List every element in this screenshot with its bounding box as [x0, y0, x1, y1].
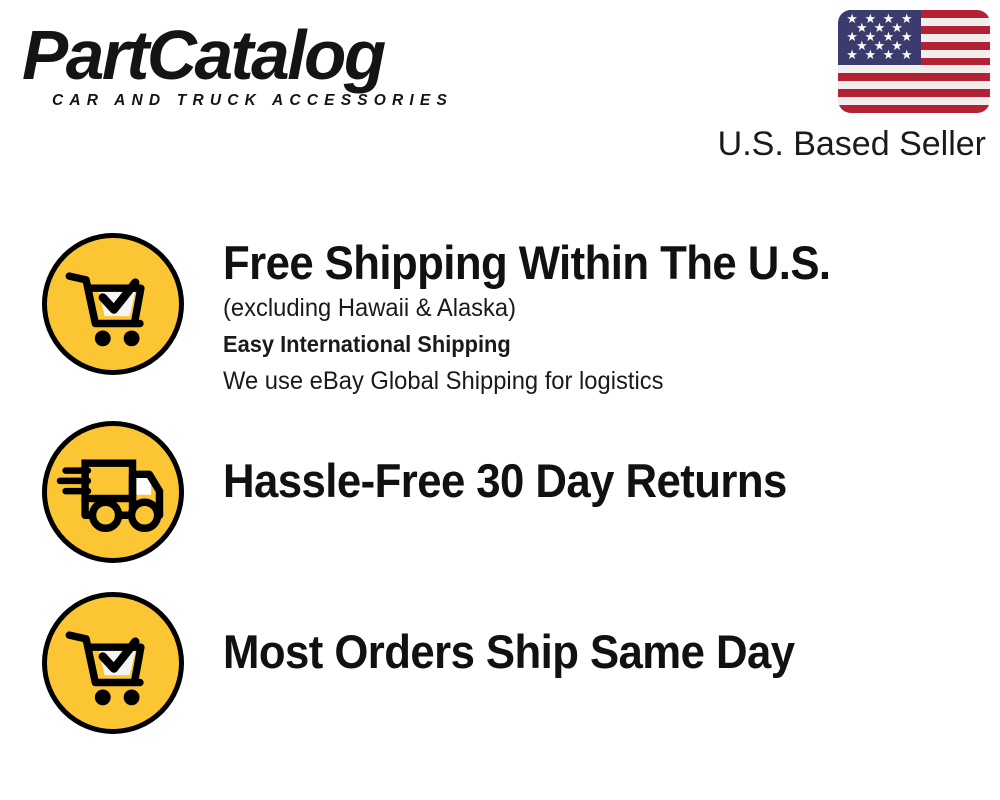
seller-badge: ★★★★ ★★★ ★★★★ ★★★ ★★★★ U.S. Based Seller [700, 10, 990, 164]
shopping-cart-check-icon [42, 592, 184, 734]
brand-tagline: CAR AND TRUCK ACCESSORIES [22, 92, 492, 110]
benefit-subtext: We use eBay Global Shipping for logistic… [223, 363, 844, 399]
benefit-title: Free Shipping Within The U.S. [223, 235, 831, 290]
benefit-title: Hassle-Free 30 Day Returns [223, 453, 787, 508]
us-flag-icon: ★★★★ ★★★ ★★★★ ★★★ ★★★★ [838, 10, 990, 113]
benefit-row: Hassle-Free 30 Day Returns [0, 421, 1000, 571]
benefit-subtext-strong: Easy International Shipping [223, 326, 844, 363]
seller-label: U.S. Based Seller [700, 124, 986, 164]
benefit-row: Free Shipping Within The U.S. (excluding… [0, 233, 1000, 399]
benefit-text: Hassle-Free 30 Day Returns [223, 421, 829, 508]
benefit-text: Free Shipping Within The U.S. (excluding… [223, 233, 876, 399]
benefit-icon [42, 592, 192, 742]
flag-canton: ★★★★ ★★★ ★★★★ ★★★ ★★★★ [838, 10, 921, 65]
benefit-title: Most Orders Ship Same Day [223, 624, 794, 679]
delivery-truck-icon [42, 421, 184, 563]
brand-wordmark: PartCatalog [22, 18, 487, 92]
benefit-icon [42, 233, 192, 383]
brand-logo[interactable]: PartCatalog CAR AND TRUCK ACCESSORIES [22, 18, 492, 110]
benefit-row: Most Orders Ship Same Day [0, 592, 1000, 742]
banner-header: PartCatalog CAR AND TRUCK ACCESSORIES ★★… [0, 0, 1000, 175]
benefit-icon [42, 421, 192, 571]
benefit-text: Most Orders Ship Same Day [223, 592, 837, 679]
shopping-cart-check-icon [42, 233, 184, 375]
benefit-subtext: (excluding Hawaii & Alaska) [223, 290, 844, 326]
